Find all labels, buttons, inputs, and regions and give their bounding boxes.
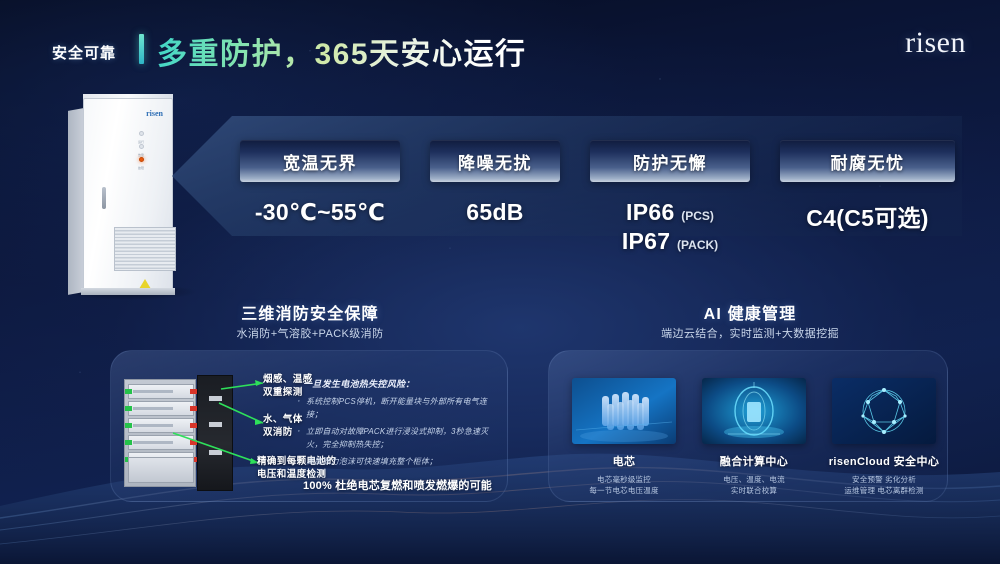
status-led-fault bbox=[139, 157, 144, 162]
header-tag: 安全可靠 bbox=[52, 42, 116, 63]
cabinet-side-panel bbox=[68, 108, 84, 295]
feature-badge-corrosion: 耐腐无忧 bbox=[780, 140, 955, 182]
feature-badge-label: 防护无懈 bbox=[633, 154, 707, 173]
led-label-fault: 故障 bbox=[132, 166, 150, 170]
cabinet-indicator-lights: 运行 告警 故障 bbox=[132, 131, 150, 170]
ai-card-desc-line1: 安全预警 劣化分析 bbox=[824, 474, 944, 485]
ai-card-title: 电芯 bbox=[572, 453, 676, 469]
ai-card-compute[interactable]: 融合计算中心 电压、温度、电流 实时联合校算 bbox=[702, 378, 806, 496]
feature-badge-row: 宽温无界 -30℃~55℃ 降噪无扰 65dB 防护无懈 IP66 (PCS) … bbox=[240, 140, 980, 260]
feature-item-ingress: 防护无懈 IP66 (PCS) IP67 (PACK) bbox=[590, 140, 750, 255]
fire-body-heading: 一旦发生电池热失控风险： bbox=[303, 377, 415, 390]
feature-value-ingress-line2: IP67 (PACK) bbox=[590, 228, 750, 255]
feature-item-temperature: 宽温无界 -30℃~55℃ bbox=[240, 140, 400, 226]
feature-value-ingress: IP66 (PCS) IP67 (PACK) bbox=[590, 199, 750, 255]
product-cabinet-image: risen 运行 告警 故障 bbox=[68, 98, 188, 298]
cabinet-brand-label: risen bbox=[146, 109, 163, 118]
feature-value-temperature: -30℃~55℃ bbox=[240, 199, 400, 226]
ai-card-desc-line2: 实时联合校算 bbox=[702, 485, 806, 496]
feature-badge-noise: 降噪无扰 bbox=[430, 140, 560, 182]
feature-item-noise: 降噪无扰 65dB bbox=[430, 140, 560, 226]
ip-rating-pack: IP67 bbox=[622, 228, 671, 254]
ai-card-desc-line1: 电芯毫秒级监控 bbox=[572, 474, 676, 485]
feature-badge-ingress: 防护无懈 bbox=[590, 140, 750, 182]
cabinet-base bbox=[81, 288, 175, 295]
fire-section-subtitle: 水消防+气溶胶+PACK级消防 bbox=[170, 325, 450, 341]
cabinet-front-door: risen 运行 告警 故障 bbox=[83, 98, 173, 294]
feature-badge-label: 宽温无界 bbox=[283, 154, 357, 173]
slide-header: 安全可靠 多重防护，365天安心运行 risen bbox=[0, 0, 1000, 92]
header-divider bbox=[139, 34, 144, 64]
cabinet-door-handle bbox=[102, 187, 106, 209]
cabinet-ventilation-grille bbox=[114, 227, 176, 271]
feature-badge-temperature: 宽温无界 bbox=[240, 140, 400, 182]
fire-body-item: 高膨胀力泡沫可快速填充整个柜体； bbox=[296, 456, 496, 469]
ai-card-thumbnail-cells bbox=[572, 378, 676, 444]
led-label-alarm: 告警 bbox=[132, 153, 150, 157]
feature-badge-label: 降噪无扰 bbox=[458, 154, 532, 173]
ai-card-description: 安全预警 劣化分析 运维管理 电芯离群检测 bbox=[824, 474, 944, 496]
fire-body-footer: 100% 杜绝电芯复燃和喷发燃爆的可能 bbox=[303, 477, 492, 493]
fire-section-title: 三维消防安全保障 bbox=[170, 300, 450, 324]
ai-card-desc-line2: 运维管理 电芯离群检测 bbox=[824, 485, 944, 496]
ai-card-thumbnail-cloud bbox=[832, 378, 936, 444]
ai-card-desc-line1: 电压、温度、电流 bbox=[702, 474, 806, 485]
ai-card-thumbnail-compute bbox=[702, 378, 806, 444]
fire-body-item: 立即自动对故障PACK进行浸没式抑制，3秒急速灭火，完全抑制热失控； bbox=[296, 426, 496, 451]
page-title: 多重防护，365天安心运行 bbox=[157, 29, 527, 73]
ai-card-cloud[interactable]: risenCloud 安全中心 安全预警 劣化分析 运维管理 电芯离群检测 bbox=[824, 378, 944, 496]
ai-section-title: AI 健康管理 bbox=[620, 300, 880, 324]
ip-rating-pack-note: (PACK) bbox=[677, 238, 718, 252]
feature-badge-label: 耐腐无忧 bbox=[831, 154, 905, 173]
feature-value-noise: 65dB bbox=[430, 199, 560, 226]
ai-card-description: 电芯毫秒级监控 每一节电芯电压温度 bbox=[572, 474, 676, 496]
slide-root: 安全可靠 多重防护，365天安心运行 risen risen 运行 告警 故障 bbox=[0, 0, 1000, 564]
feature-value-corrosion: C4(C5可选) bbox=[780, 199, 955, 233]
ai-section-subtitle: 端边云结合，实时监测+大数据挖掘 bbox=[600, 325, 900, 341]
status-led-run bbox=[139, 131, 144, 136]
fire-body-list: 系统控制PCS停机，断开能量块与外部所有电气连接； 立即自动对故障PACK进行浸… bbox=[296, 396, 496, 474]
ai-card-cells[interactable]: 电芯 电芯毫秒级监控 每一节电芯电压温度 bbox=[572, 378, 676, 496]
ai-card-title: 融合计算中心 bbox=[702, 453, 806, 469]
ai-card-title: risenCloud 安全中心 bbox=[824, 453, 944, 469]
risen-logo: risen bbox=[905, 26, 966, 60]
ai-card-description: 电压、温度、电流 实时联合校算 bbox=[702, 474, 806, 496]
ai-card-desc-line2: 每一节电芯电压温度 bbox=[572, 485, 676, 496]
led-label-run: 运行 bbox=[132, 140, 150, 144]
feature-item-corrosion: 耐腐无忧 C4(C5可选) bbox=[780, 140, 955, 233]
fire-body-item: 系统控制PCS停机，断开能量块与外部所有电气连接； bbox=[296, 396, 496, 421]
ip-rating-pcs: IP66 bbox=[626, 199, 675, 225]
status-led-alarm bbox=[139, 144, 144, 149]
ip-rating-pcs-note: (PCS) bbox=[681, 209, 714, 223]
